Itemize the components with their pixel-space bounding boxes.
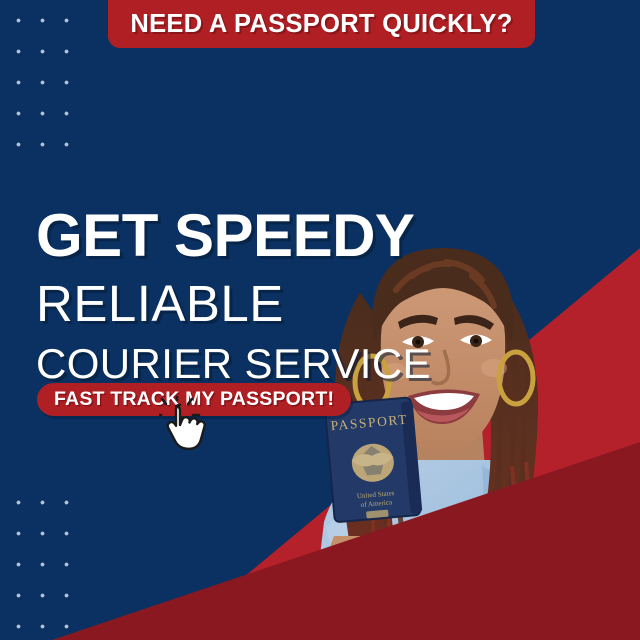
headline-block: GET SPEEDY RELIABLE COURIER SERVICE [36,206,431,385]
fast-track-cta-button[interactable]: FAST TRACK MY PASSPORT! [37,383,351,416]
dot-grid-pattern-top-left [16,18,88,149]
cta-label: FAST TRACK MY PASSPORT! [54,388,334,411]
top-banner-text: NEED A PASSPORT QUICKLY? [130,10,512,39]
dot-grid-pattern-bottom-left [16,500,88,631]
headline-line-3: COURIER SERVICE [36,343,431,385]
top-banner: NEED A PASSPORT QUICKLY? [108,0,535,48]
passport-courier-ad: PASSPORT United States of America N [0,0,640,640]
headline-line-1: GET SPEEDY [36,206,431,266]
headline-line-2: RELIABLE [36,278,431,329]
